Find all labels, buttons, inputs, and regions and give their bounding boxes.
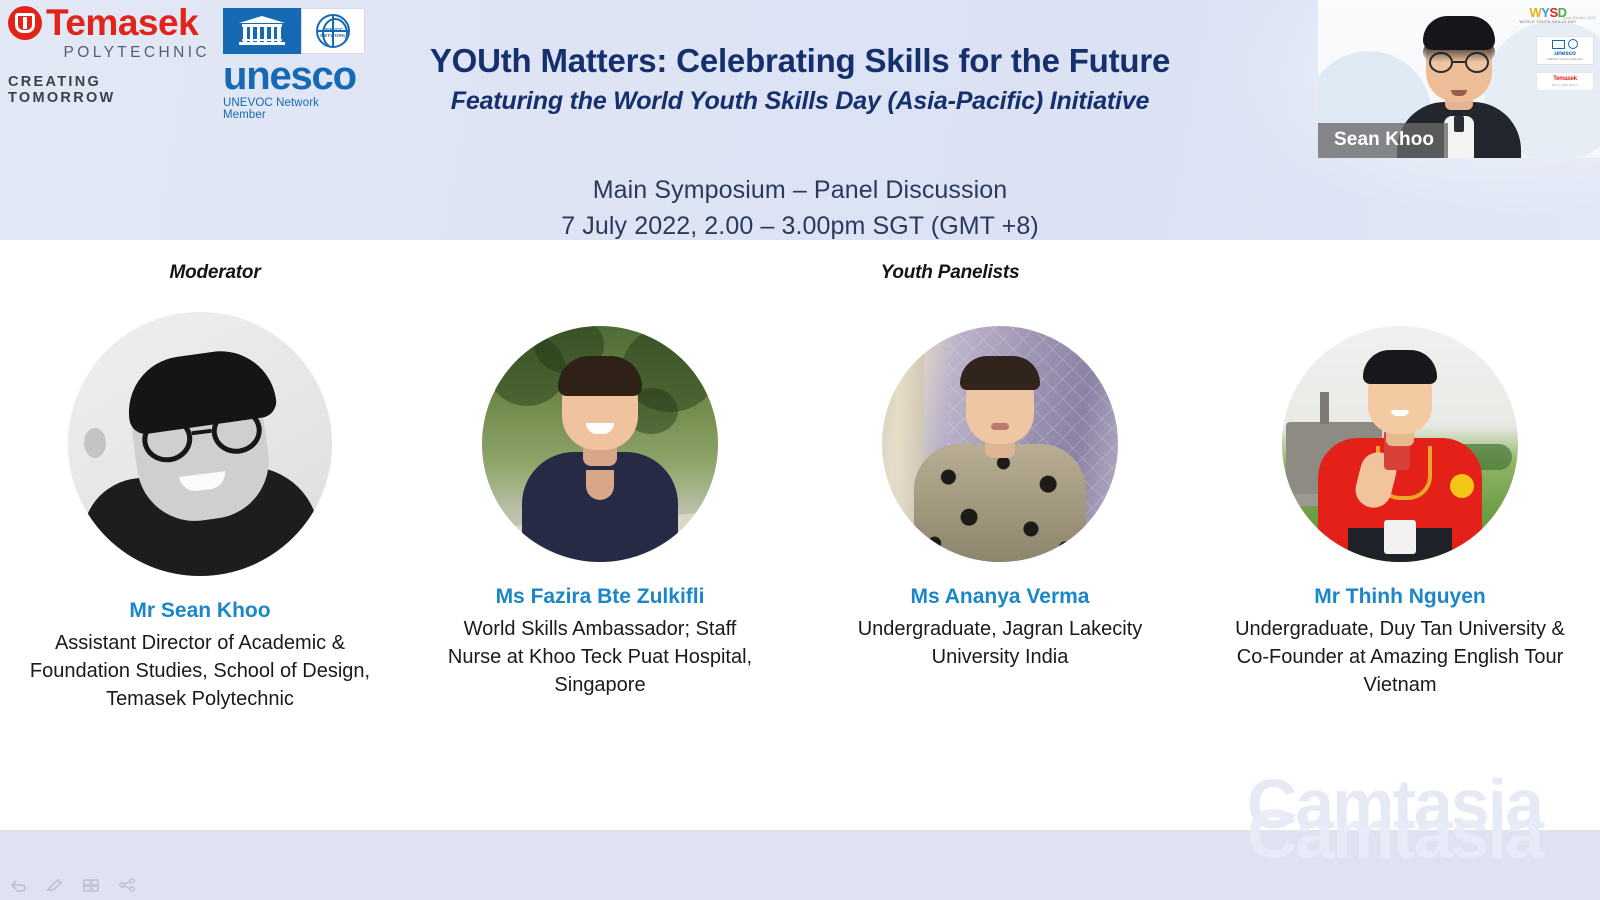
unesco-temple-icon xyxy=(223,8,301,54)
person-card: Ms Fazira Bte Zulkifli World Skills Amba… xyxy=(400,312,800,713)
temasek-polytechnic-label: POLYTECHNIC xyxy=(8,44,213,62)
session-info-block: Main Symposium – Panel Discussion 7 July… xyxy=(300,172,1300,245)
person-name: Mr Sean Khoo xyxy=(129,598,270,623)
bottom-toolbar xyxy=(10,878,136,892)
temasek-polytechnic-logo: Temasek POLYTECHNIC CREATING TOMORROW xyxy=(8,4,213,106)
roles-row: Moderator Youth Panelists xyxy=(0,262,1600,292)
person-card: Mr Thinh Nguyen Undergraduate, Duy Tan U… xyxy=(1200,312,1600,713)
person-description: Undergraduate, Duy Tan University & Co-F… xyxy=(1220,615,1580,699)
video-background-logos: WYSD WORLD YOUTH SKILLS DAY Asia-Pacific… xyxy=(1502,6,1594,91)
wysd-letter-s: S xyxy=(1549,5,1557,20)
person-description: Assistant Director of Academic & Foundat… xyxy=(20,629,380,713)
grid-icon[interactable] xyxy=(82,878,100,892)
people-grid: Mr Sean Khoo Assistant Director of Acade… xyxy=(0,312,1600,713)
video-unesco-label: unesco xyxy=(1537,50,1593,57)
portrait-fazira-bte-zulkifli xyxy=(482,326,718,562)
video-temasek-sublabel: POLYTECHNIC xyxy=(1537,83,1593,87)
slide-title: YOUth Matters: Celebrating Skills for th… xyxy=(300,42,1300,80)
person-name: Ms Ananya Verma xyxy=(911,584,1090,609)
video-temasek-logo: Temasek POLYTECHNIC xyxy=(1536,72,1594,91)
moderator-label: Moderator xyxy=(0,262,430,284)
person-card: Ms Ananya Verma Undergraduate, Jagran La… xyxy=(800,312,1200,713)
youth-panelists-label: Youth Panelists xyxy=(620,262,1280,284)
session-datetime: 7 July 2022, 2.00 – 3.00pm SGT (GMT +8) xyxy=(300,208,1300,244)
wysd-sublabel: WORLD YOUTH SKILLS DAY xyxy=(1502,20,1594,24)
video-tile-self-view[interactable]: WYSD WORLD YOUTH SKILLS DAY Asia-Pacific… xyxy=(1318,0,1600,158)
app-bottom-bar: Camtasia xyxy=(0,830,1600,900)
presentation-slide: Temasek POLYTECHNIC CREATING TOMORROW U xyxy=(0,0,1600,830)
temasek-lion-icon xyxy=(8,6,42,40)
pen-icon[interactable] xyxy=(46,878,64,892)
wysd-region-label: Asia-Pacific 2022 xyxy=(1563,16,1596,20)
video-temasek-label: Temasek xyxy=(1537,76,1593,82)
person-name: Ms Fazira Bte Zulkifli xyxy=(496,584,705,609)
undo-icon[interactable] xyxy=(10,878,28,892)
slide-watermark: Camtasia xyxy=(1247,764,1542,830)
person-description: Undergraduate, Jagran Lakecity Universit… xyxy=(835,615,1165,671)
portrait-thinh-nguyen xyxy=(1282,326,1518,562)
person-description: World Skills Ambassador; Staff Nurse at … xyxy=(435,615,765,699)
session-name: Main Symposium – Panel Discussion xyxy=(300,172,1300,208)
slide-title-block: YOUth Matters: Celebrating Skills for th… xyxy=(300,42,1300,116)
unevoc-globe-label: UNEVOC NETWORK xyxy=(318,27,348,38)
temasek-tagline: CREATING TOMORROW xyxy=(8,74,213,106)
video-unesco-sublabel: UNEVOC Network Member xyxy=(1537,57,1593,61)
video-unesco-logo: unesco UNEVOC Network Member xyxy=(1536,36,1594,65)
temasek-wordmark: Temasek xyxy=(46,4,198,41)
slide-subtitle: Featuring the World Youth Skills Day (As… xyxy=(300,86,1300,116)
person-card: Mr Sean Khoo Assistant Director of Acade… xyxy=(0,312,400,713)
portrait-ananya-verma xyxy=(882,326,1118,562)
share-icon[interactable] xyxy=(118,878,136,892)
video-participant-name-badge: Sean Khoo xyxy=(1318,123,1448,158)
wysd-letter-w: W xyxy=(1529,5,1541,20)
portrait-sean-khoo xyxy=(68,312,332,576)
person-name: Mr Thinh Nguyen xyxy=(1314,584,1486,609)
